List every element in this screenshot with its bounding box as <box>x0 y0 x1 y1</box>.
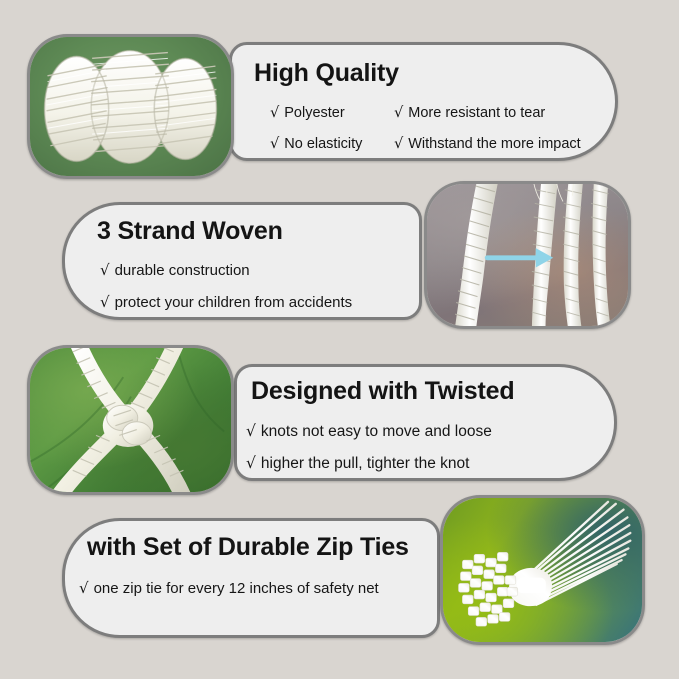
feature-panel-designed-with-twisted: Designed with Twisted √ knots not easy t… <box>234 364 617 481</box>
feature-bullet: √ Withstand the more impact <box>394 136 581 152</box>
zip-ties-bundle-photo <box>440 495 645 645</box>
product-feature-infographic: High Quality √ Polyester √ No elasticity… <box>0 0 679 679</box>
feature-headline: with Set of Durable Zip Ties <box>87 533 409 562</box>
feature-bullet: √ durable construction <box>100 261 250 279</box>
feature-bullet-label: higher the pull, tighter the knot <box>261 455 470 473</box>
check-mark-icon: √ <box>394 136 403 152</box>
knot-on-leaves-photo <box>27 345 234 495</box>
feature-headline: Designed with Twisted <box>251 377 514 406</box>
feature-bullet: √ Polyester <box>270 105 345 121</box>
check-mark-icon: √ <box>100 293 110 311</box>
feature-bullet-label: Polyester <box>284 105 344 121</box>
feature-bullet-label: protect your children from accidents <box>115 294 353 311</box>
check-mark-icon: √ <box>79 579 89 597</box>
feature-bullet: √ protect your children from accidents <box>100 293 352 311</box>
feature-panel-durable-zip-ties: with Set of Durable Zip Ties √ one zip t… <box>62 518 440 638</box>
feature-bullet: √ one zip tie for every 12 inches of saf… <box>79 579 379 597</box>
feature-bullet-label: No elasticity <box>284 136 362 152</box>
check-mark-icon: √ <box>270 105 279 121</box>
feature-bullet-label: Withstand the more impact <box>408 136 580 152</box>
check-mark-icon: √ <box>270 136 279 152</box>
three-strand-closeup-photo <box>424 181 631 329</box>
feature-headline: High Quality <box>254 59 399 88</box>
feature-headline: 3 Strand Woven <box>97 217 283 246</box>
feature-bullet: √ higher the pull, tighter the knot <box>246 454 469 473</box>
rope-coil-illustration <box>30 37 231 176</box>
check-mark-icon: √ <box>394 105 403 121</box>
feature-bullet: √ knots not easy to move and loose <box>246 422 492 441</box>
feature-bullet-label: durable construction <box>115 262 250 279</box>
zip-ties-illustration <box>443 498 642 642</box>
check-mark-icon: √ <box>100 261 110 279</box>
feature-bullet: √ No elasticity <box>270 136 362 152</box>
check-mark-icon: √ <box>246 454 256 472</box>
twisted-knot-illustration <box>30 348 231 492</box>
feature-bullet-label: More resistant to tear <box>408 105 545 121</box>
strand-separation-illustration <box>427 184 628 326</box>
rope-coil-photo <box>27 34 234 179</box>
check-mark-icon: √ <box>246 422 256 440</box>
feature-panel-three-strand-woven: 3 Strand Woven √ durable construction √ … <box>62 202 422 320</box>
feature-bullet-label: knots not easy to move and loose <box>261 423 492 441</box>
feature-panel-high-quality: High Quality √ Polyester √ No elasticity… <box>229 42 618 161</box>
feature-bullet: √ More resistant to tear <box>394 105 545 121</box>
feature-bullet-label: one zip tie for every 12 inches of safet… <box>94 580 379 597</box>
